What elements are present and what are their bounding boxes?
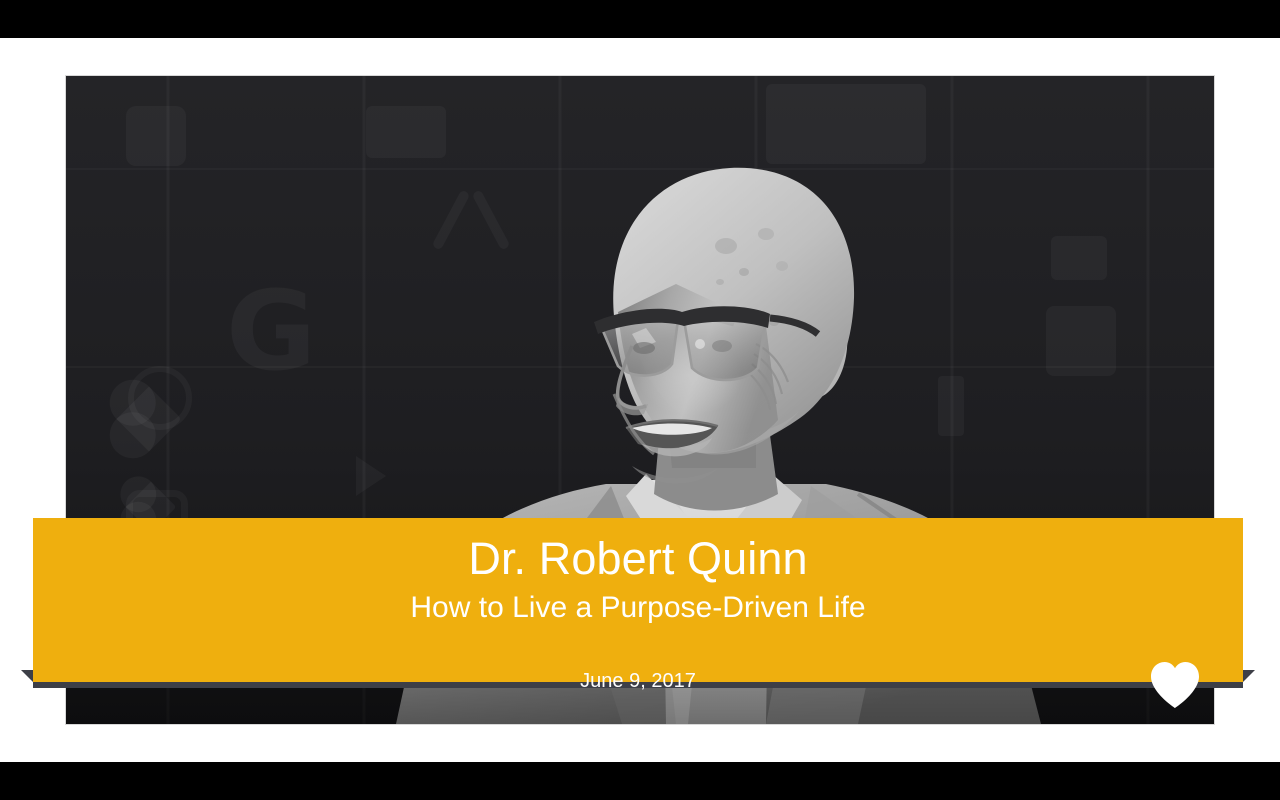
speaker-name: Dr. Robert Quinn bbox=[33, 533, 1243, 585]
talk-info-banner: Dr. Robert Quinn How to Live a Purpose-D… bbox=[33, 518, 1243, 682]
talk-title: How to Live a Purpose-Driven Life bbox=[33, 591, 1243, 625]
letterbox-bar-top bbox=[0, 0, 1280, 38]
letterbox-bar-bottom bbox=[0, 762, 1280, 800]
favorite-button[interactable] bbox=[1149, 660, 1201, 710]
heart-icon bbox=[1149, 660, 1201, 710]
talk-date: June 9, 2017 bbox=[33, 670, 1243, 693]
page-canvas: G bbox=[0, 38, 1280, 762]
